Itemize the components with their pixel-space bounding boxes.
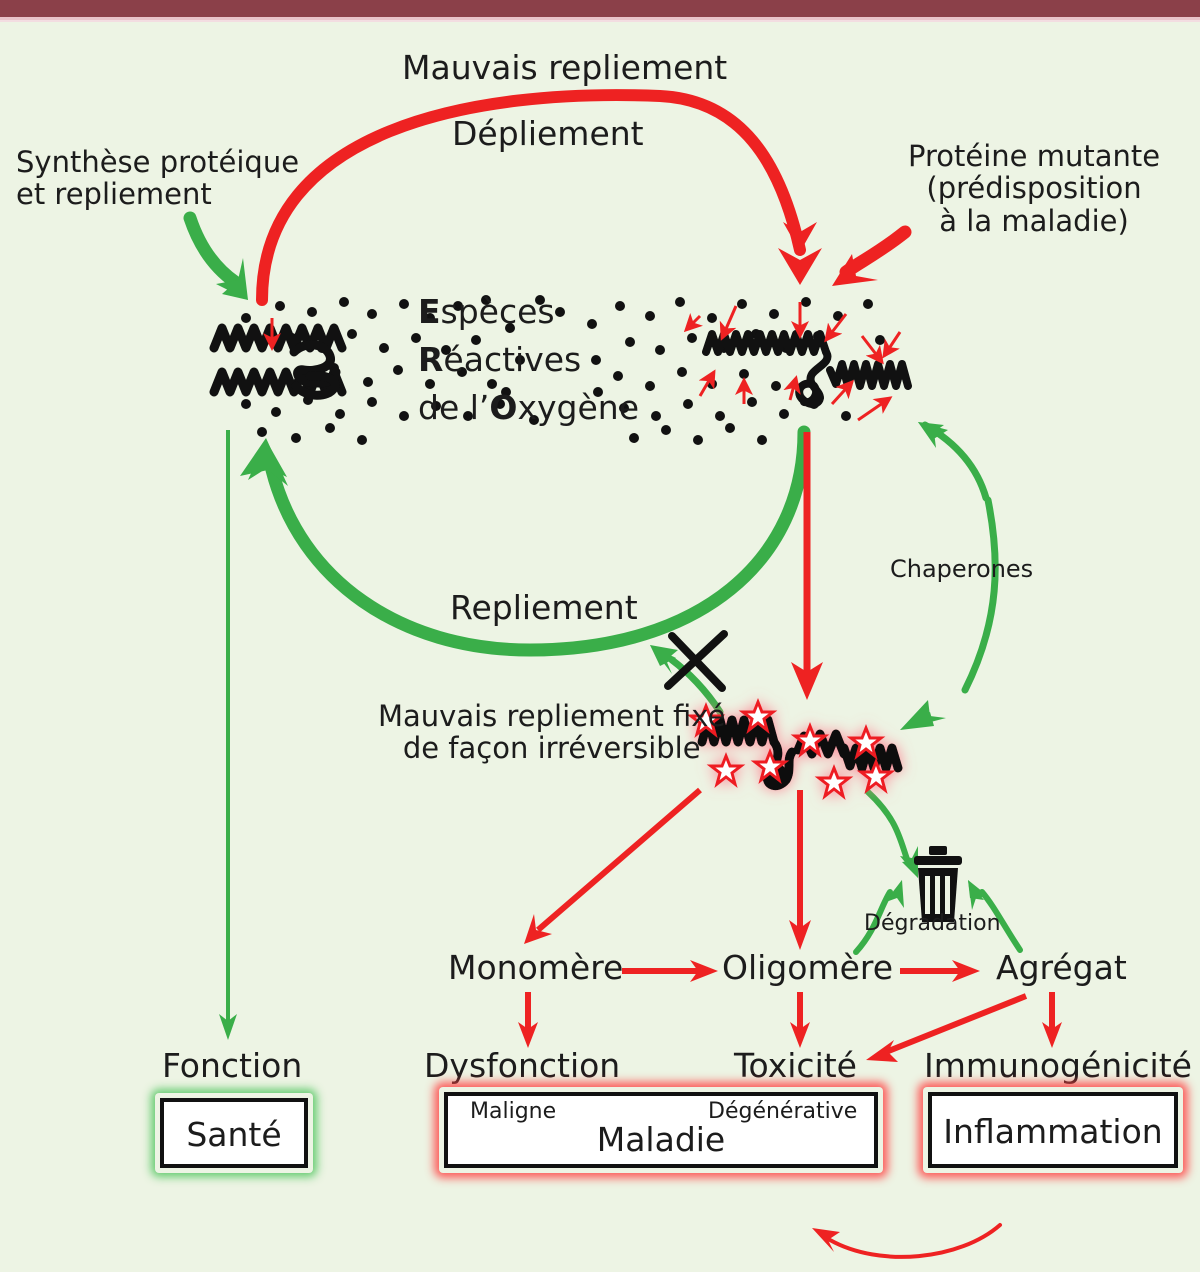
label-synthese-proteique: Synthèse protéique et repliement — [16, 146, 299, 211]
label-mauvais-repliement-fixe: Mauvais repliement fixé de façon irréver… — [378, 700, 725, 765]
label-chaperones: Chaperones — [890, 556, 1033, 583]
arrow-agregat-immunogenicite — [1042, 992, 1062, 1048]
box-sante: Santé — [160, 1098, 308, 1168]
arrow-monomere-oligomere — [622, 960, 718, 982]
arrow-monomere-dysfonction — [518, 992, 538, 1048]
label-immunogenicite: Immunogénicité — [924, 1048, 1192, 1085]
arrow-to-monomere — [524, 790, 700, 944]
label-ero: Espèces Réactives de l’Oxygène — [418, 288, 639, 432]
folded-protein-icon — [214, 328, 342, 395]
label-oligomere: Oligomère — [722, 950, 893, 987]
label-agregat: Agrégat — [996, 950, 1127, 987]
arrow-function-line — [219, 430, 237, 1040]
ero-o-rest: xygène — [517, 388, 639, 427]
box-inflammation: Inflammation — [928, 1092, 1178, 1168]
unfolded-protein-icon — [706, 334, 908, 404]
arrow-misfold-to-degradation — [868, 792, 918, 878]
label-toxicite: Toxicité — [734, 1048, 857, 1085]
ero-o-bold: O — [489, 388, 517, 427]
figure-canvas: Synthèse protéique et repliement Mauvais… — [0, 0, 1200, 1272]
ero-r-bold: R — [418, 340, 443, 379]
box-inflammation-label: Inflammation — [928, 1112, 1178, 1151]
arrow-oligomere-toxicite — [790, 992, 810, 1048]
ero-e-rest: spèces — [441, 292, 555, 331]
box-maladie-label: Maladie — [444, 1120, 878, 1159]
label-degradation: Dégradation — [864, 912, 1001, 937]
arrow-mutant-protein — [832, 232, 905, 286]
ero-e-bold: E — [418, 292, 441, 331]
label-repliement: Repliement — [450, 590, 638, 627]
ero-r-rest: éactives — [443, 340, 581, 379]
arrow-oligomere-agregat — [900, 960, 980, 982]
arrow-to-oligomere — [789, 790, 811, 950]
label-monomere: Monomère — [448, 950, 623, 987]
box-maladie-tag-maligne: Maligne — [470, 1100, 556, 1125]
ero-o-pre: de l’ — [418, 388, 489, 427]
arrow-inflammation-maladie — [812, 1225, 1000, 1257]
label-proteine-mutante: Protéine mutante (prédisposition à la ma… — [908, 140, 1160, 237]
label-depliement: Dépliement — [452, 116, 644, 153]
label-dysfonction: Dysfonction — [424, 1048, 620, 1085]
label-mauvais-repliement: Mauvais repliement — [402, 50, 727, 87]
arrow-protein-synthesis — [190, 218, 248, 300]
box-sante-label: Santé — [160, 1115, 308, 1154]
box-maladie: Maladie Maligne Dégénérative — [444, 1092, 878, 1168]
label-fonction: Fonction — [162, 1048, 302, 1085]
box-maladie-tag-degenerative: Dégénérative — [708, 1100, 857, 1125]
